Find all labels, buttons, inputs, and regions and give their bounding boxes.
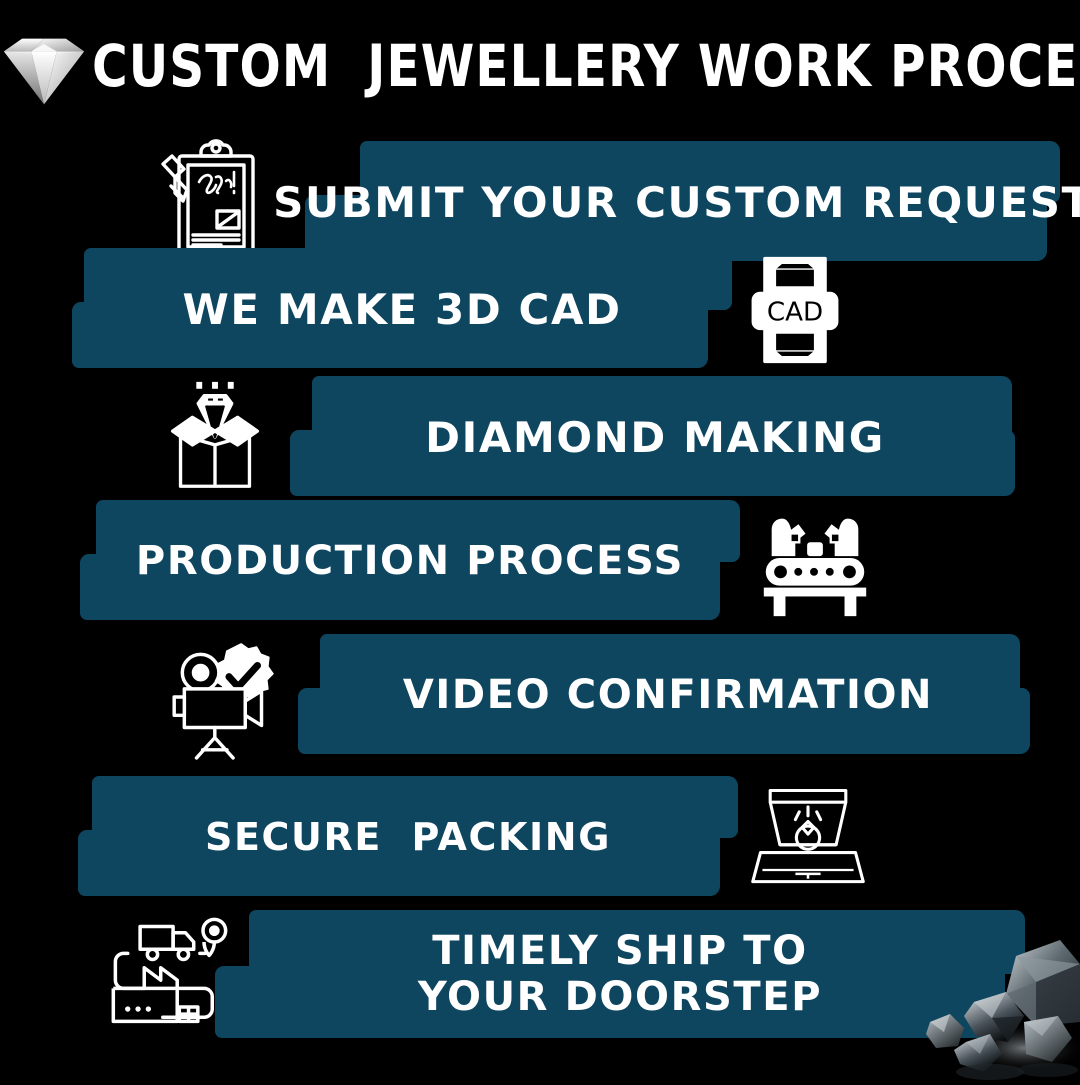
ring-jewellery-box-icon bbox=[728, 768, 888, 908]
step-row-6: SECURE PACKING bbox=[0, 768, 1080, 908]
brush-band-top bbox=[360, 141, 1060, 203]
video-camera-check-icon bbox=[148, 626, 308, 766]
brush-band-top bbox=[92, 776, 738, 838]
step-banner-7[interactable]: TIMELY SHIP TO YOUR DOORSTEP bbox=[215, 900, 1025, 1050]
brush-band-top bbox=[249, 910, 1025, 974]
step-row-7: TIMELY SHIP TO YOUR DOORSTEP bbox=[0, 900, 1080, 1050]
step-banner-2[interactable]: WE MAKE 3D CAD bbox=[72, 240, 732, 380]
infographic-canvas: CUSTOM JEWELLERY WORK PROCESS bbox=[0, 0, 1080, 1080]
conveyor-robot-arms-icon bbox=[735, 492, 895, 632]
step-row-4: PRODUCTION PROCESS bbox=[0, 492, 1080, 632]
step-row-5: VIDEO CONFIRMATION bbox=[0, 626, 1080, 766]
step-banner-4[interactable]: PRODUCTION PROCESS bbox=[80, 492, 740, 632]
header: CUSTOM JEWELLERY WORK PROCESS bbox=[0, 18, 1080, 113]
brush-band-top bbox=[96, 500, 740, 562]
step-row-3: DIAMOND MAKING bbox=[0, 368, 1080, 508]
brush-band-bottom bbox=[215, 966, 1005, 1038]
svg-text:CAD: CAD bbox=[767, 298, 823, 328]
diamond-cluster-photo bbox=[920, 930, 1080, 1080]
step-banner-3[interactable]: DIAMOND MAKING bbox=[290, 368, 1020, 508]
brush-band-bottom bbox=[290, 430, 1015, 496]
diamond-icon bbox=[0, 24, 90, 108]
page-title: CUSTOM JEWELLERY WORK PROCESS bbox=[92, 37, 1080, 95]
diamond-in-box-icon bbox=[135, 368, 295, 508]
step-banner-6[interactable]: SECURE PACKING bbox=[78, 768, 738, 908]
brush-band-top bbox=[320, 634, 1020, 696]
brush-band-top bbox=[312, 376, 1012, 438]
brush-band-top bbox=[84, 248, 732, 310]
step-banner-5[interactable]: VIDEO CONFIRMATION bbox=[298, 626, 1038, 766]
brush-band-bottom bbox=[78, 830, 720, 896]
step-row-2: CAD WE MAKE 3D CAD bbox=[0, 240, 1080, 380]
brush-band-bottom bbox=[298, 688, 1030, 754]
brush-band-bottom bbox=[80, 554, 720, 620]
brush-band-bottom bbox=[72, 302, 708, 368]
cad-printer-icon: CAD bbox=[715, 240, 875, 380]
